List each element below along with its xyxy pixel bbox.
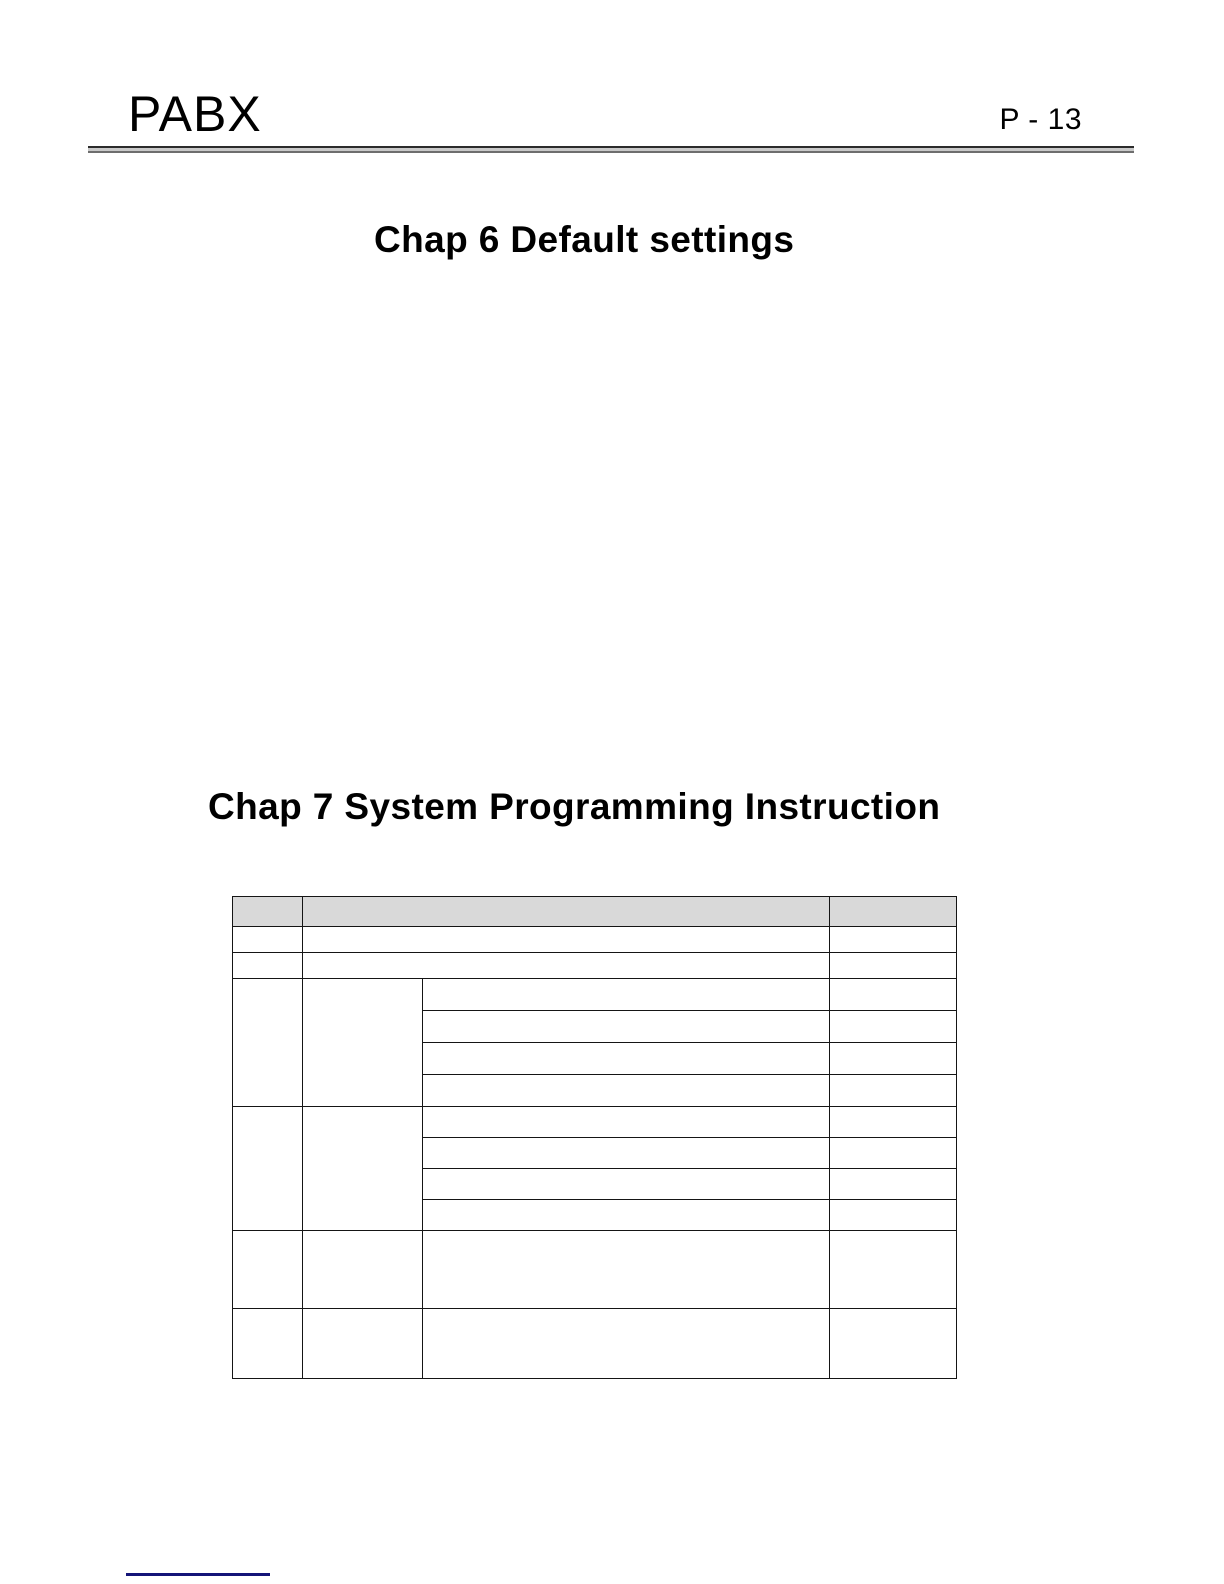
table-cell-value [830, 1011, 957, 1043]
table-cell-value [830, 1200, 957, 1231]
table-header-cell-item [303, 897, 830, 927]
table-cell-value [830, 979, 957, 1011]
table-cell-value [830, 1075, 957, 1107]
table-cell-no [233, 1231, 303, 1309]
header-divider-rule [88, 146, 1134, 153]
table-cell-item [303, 1309, 423, 1379]
page-title: PABX [128, 86, 262, 142]
table-cell-value [830, 1107, 957, 1138]
table-cell-value [830, 1169, 957, 1200]
table-cell-desc [303, 953, 830, 979]
page-header: PABX P - 13 [88, 86, 1134, 156]
table-cell-no [233, 953, 303, 979]
chapter-7-heading: Chap 7 System Programming Instruction [208, 785, 940, 829]
table-cell-desc [423, 1231, 830, 1309]
table-row [233, 1309, 957, 1379]
table-cell-desc [423, 1075, 830, 1107]
table-row [233, 953, 957, 979]
page-number: P - 13 [1000, 102, 1083, 138]
table-cell-desc [423, 979, 830, 1011]
table-header-cell-no [233, 897, 303, 927]
table-cell-value [830, 1138, 957, 1169]
table-cell-desc [423, 1043, 830, 1075]
table-cell-value [830, 927, 957, 953]
table-header-cell-value [830, 897, 957, 927]
table-cell-no [233, 1309, 303, 1379]
table-cell-value [830, 1309, 957, 1379]
table-cell-value [830, 953, 957, 979]
table-cell-desc [303, 927, 830, 953]
table-cell-item [303, 979, 423, 1107]
table-cell-no [233, 1107, 303, 1231]
table-header-row [233, 897, 957, 927]
table-cell-desc [423, 1200, 830, 1231]
table-cell-no [233, 927, 303, 953]
table-row [233, 979, 957, 1011]
table-cell-item [303, 1231, 423, 1309]
table-row [233, 1107, 957, 1138]
chapter-6-heading: Chap 6 Default settings [374, 218, 794, 262]
table-row [233, 927, 957, 953]
table-cell-desc [423, 1138, 830, 1169]
table-cell-desc [423, 1169, 830, 1200]
table-cell-no [233, 979, 303, 1107]
programming-instruction-table [232, 896, 957, 1379]
table-cell-item [303, 1107, 423, 1231]
table-cell-value [830, 1043, 957, 1075]
table-cell-desc [423, 1011, 830, 1043]
table-cell-value [830, 1231, 957, 1309]
footer-rule [126, 1573, 270, 1576]
table-cell-desc [423, 1309, 830, 1379]
table-cell-desc [423, 1107, 830, 1138]
table-row [233, 1231, 957, 1309]
